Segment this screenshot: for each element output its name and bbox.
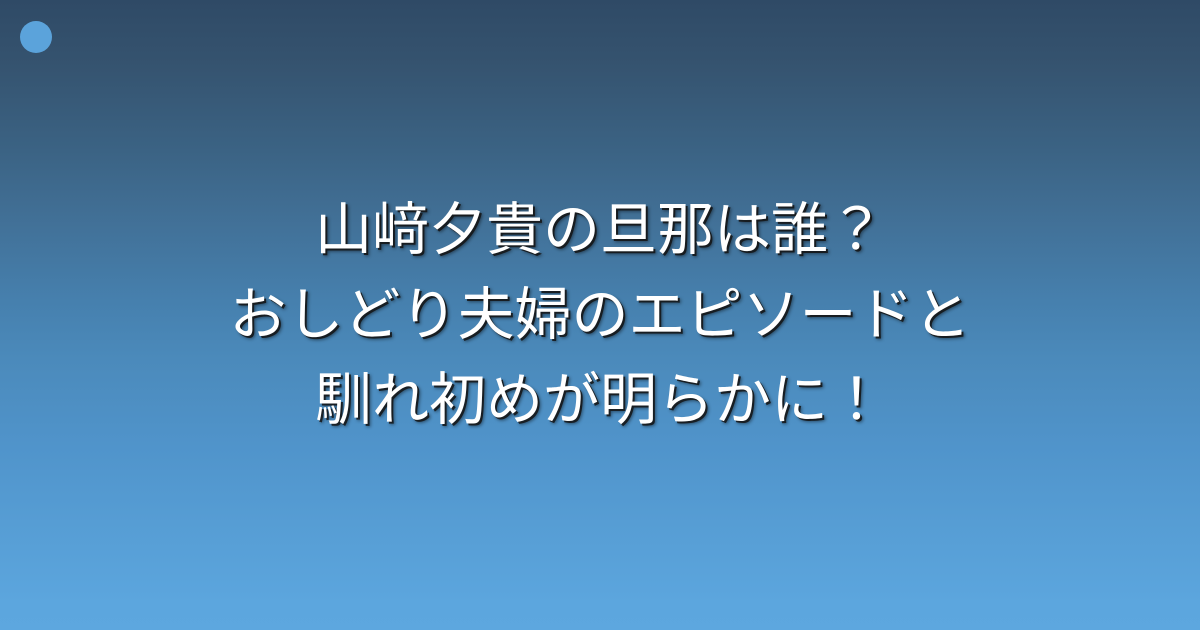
headline-line-2: おしどり夫婦のエピソードと <box>40 273 1160 358</box>
og-image-card: 山﨑夕貴の旦那は誰？ おしどり夫婦のエピソードと 馴れ初めが明らかに！ <box>0 0 1200 630</box>
headline-line-1: 山﨑夕貴の旦那は誰？ <box>40 188 1160 273</box>
headline-line-3: 馴れ初めが明らかに！ <box>40 358 1160 443</box>
headline-block: 山﨑夕貴の旦那は誰？ おしどり夫婦のエピソードと 馴れ初めが明らかに！ <box>0 0 1200 630</box>
